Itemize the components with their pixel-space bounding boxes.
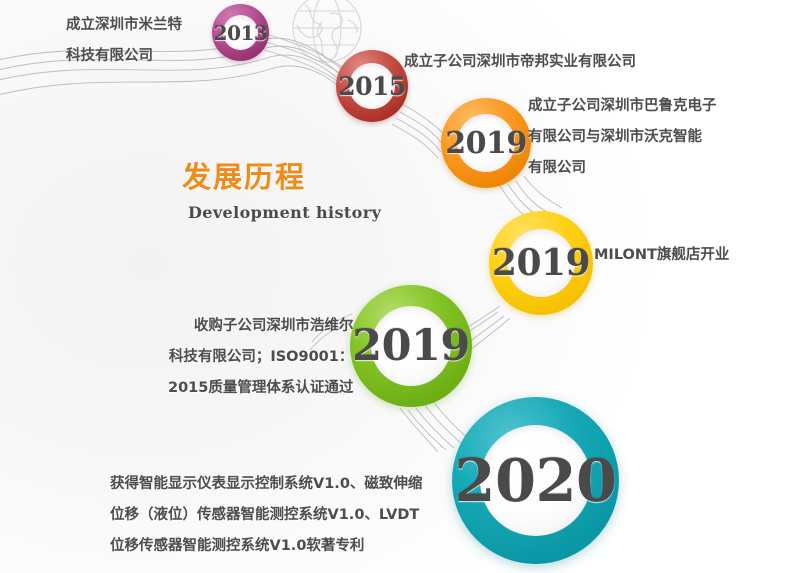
caption-line: 成立子公司深圳市巴鲁克电子 [528,91,717,122]
caption-line: 成立子公司深圳市帝邦实业有限公司 [404,47,636,78]
page-title: 发展历程 Development history [182,161,442,222]
milestone-ring-2019-yellow[interactable]: 2019 [489,211,593,315]
page-title-en: Development history [188,203,442,222]
milestone-year-2013: 2013 [214,21,268,45]
caption-line: 收购子公司深圳市浩维尔 [168,311,353,342]
caption-line: 有限公司 [528,153,717,184]
caption-line: 有限公司与深圳市沃克智能 [528,122,717,153]
milestone-ring-2013[interactable]: 2013 [212,4,269,61]
milestone-ring-2020[interactable]: 2020 [452,397,619,564]
milestone-year-2019-green: 2019 [352,321,470,371]
milestone-caption-2019-yellow: MILONT旗舰店开业 [594,240,729,271]
milestone-ring-2015[interactable]: 2015 [336,50,408,122]
development-history-infographic: 发展历程 Development history 2013 2015 2019 … [0,0,810,573]
milestone-caption-2015: 成立子公司深圳市帝邦实业有限公司 [404,47,636,78]
caption-line: MILONT旗舰店开业 [594,240,729,271]
caption-line: 2015质量管理体系认证通过 [168,373,353,404]
milestone-caption-2013: 成立深圳市米兰特 科技有限公司 [66,10,182,72]
milestone-year-2019-yellow: 2019 [492,242,590,284]
milestone-ring-2019-green[interactable]: 2019 [350,285,472,407]
milestone-year-2015: 2015 [338,72,406,101]
milestone-ring-2019-orange[interactable]: 2019 [441,98,531,188]
page-title-cn: 发展历程 [182,161,442,194]
caption-line: 科技有限公司；ISO9001： [168,342,353,373]
caption-line: 科技有限公司 [66,41,182,72]
milestone-year-2019-orange: 2019 [445,126,527,161]
caption-line: 位移（液位）传感器智能测控系统V1.0、LVDT [110,500,422,531]
milestone-caption-2020: 获得智能显示仪表显示控制系统V1.0、磁致伸缩 位移（液位）传感器智能测控系统V… [110,469,422,562]
milestone-year-2020: 2020 [454,446,616,515]
caption-line: 获得智能显示仪表显示控制系统V1.0、磁致伸缩 [110,469,422,500]
milestone-caption-2019-green: 收购子公司深圳市浩维尔 科技有限公司；ISO9001： 2015质量管理体系认证… [168,311,353,404]
caption-line: 成立深圳市米兰特 [66,10,182,41]
milestone-caption-2019-orange: 成立子公司深圳市巴鲁克电子 有限公司与深圳市沃克智能 有限公司 [528,91,717,184]
caption-line: 位移传感器智能测控系统V1.0软著专利 [110,531,422,562]
